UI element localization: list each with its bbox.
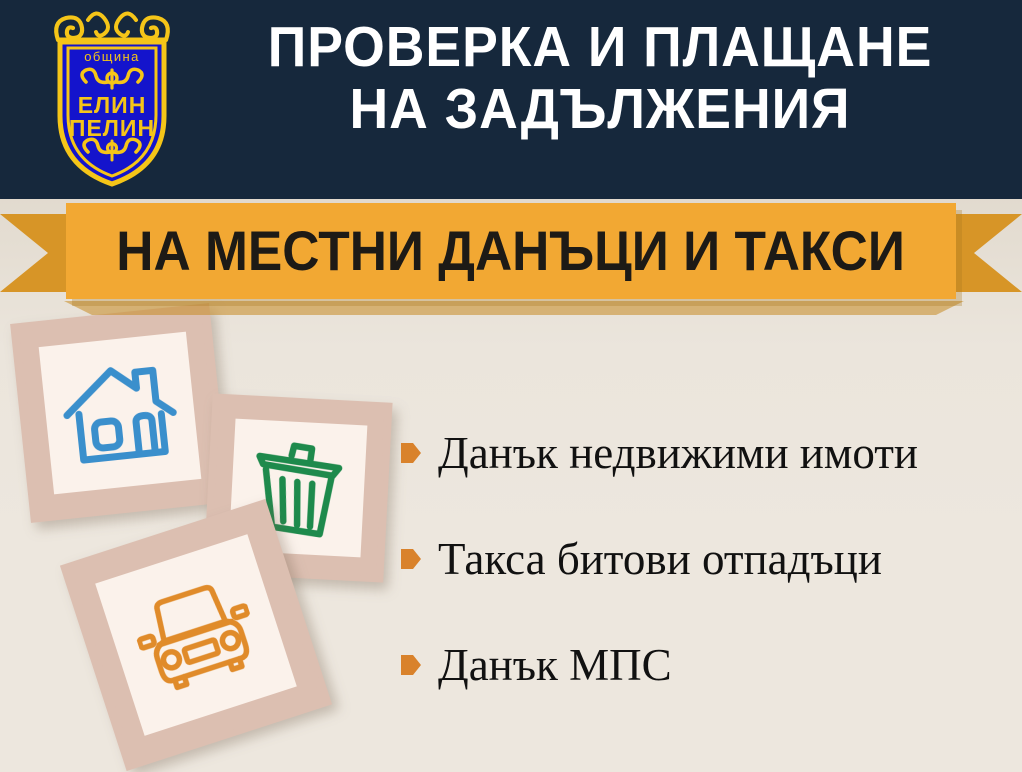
coat-of-arms-icon: община ЕЛИН ПЕЛИН: [42, 8, 182, 190]
arrow-bullet-icon: [400, 652, 422, 678]
logo-line2-label: ПЕЛИН: [69, 115, 155, 141]
arrow-bullet-icon: [400, 546, 422, 572]
list-item[interactable]: Такса битови отпадъци: [400, 534, 1010, 584]
arrow-bullet-icon: [400, 440, 422, 466]
poster-canvas: община ЕЛИН ПЕЛИН ПРОВЕРКА И ПЛАЩАНЕ НА …: [0, 0, 1022, 772]
list-item-label: Данък недвижими имоти: [438, 428, 918, 478]
page-title-line-2: НА ЗАДЪЛЖЕНИЯ: [215, 78, 986, 140]
municipality-logo: община ЕЛИН ПЕЛИН: [42, 8, 182, 190]
list-item[interactable]: Данък недвижими имоти: [400, 428, 1010, 478]
house-icon: [56, 352, 185, 474]
stamp-card-house: [10, 303, 230, 523]
ribbon-fold-shadow: [64, 301, 964, 315]
page-title: ПРОВЕРКА И ПЛАЩАНЕ НА ЗАДЪЛЖЕНИЯ: [190, 16, 1010, 140]
header-bar: община ЕЛИН ПЕЛИН ПРОВЕРКА И ПЛАЩАНЕ НА …: [0, 0, 1022, 199]
list-item[interactable]: Данък МПС: [400, 640, 1010, 690]
list-item-label: Такса битови отпадъци: [438, 534, 882, 584]
tax-types-list: Данък недвижими имоти Такса битови отпад…: [400, 428, 1010, 746]
logo-small-label: община: [84, 49, 139, 64]
subtitle-ribbon: НА МЕСТНИ ДАНЪЦИ И ТАКСИ: [0, 203, 1022, 299]
house-icon-wrap: [10, 303, 230, 523]
page-title-line-1: ПРОВЕРКА И ПЛАЩАНЕ: [215, 16, 986, 78]
ribbon-label: НА МЕСТНИ ДАНЪЦИ И ТАКСИ: [117, 221, 906, 281]
ribbon-body: НА МЕСТНИ ДАНЪЦИ И ТАКСИ: [66, 203, 956, 299]
list-item-label: Данък МПС: [438, 640, 672, 690]
car-icon: [125, 570, 266, 701]
